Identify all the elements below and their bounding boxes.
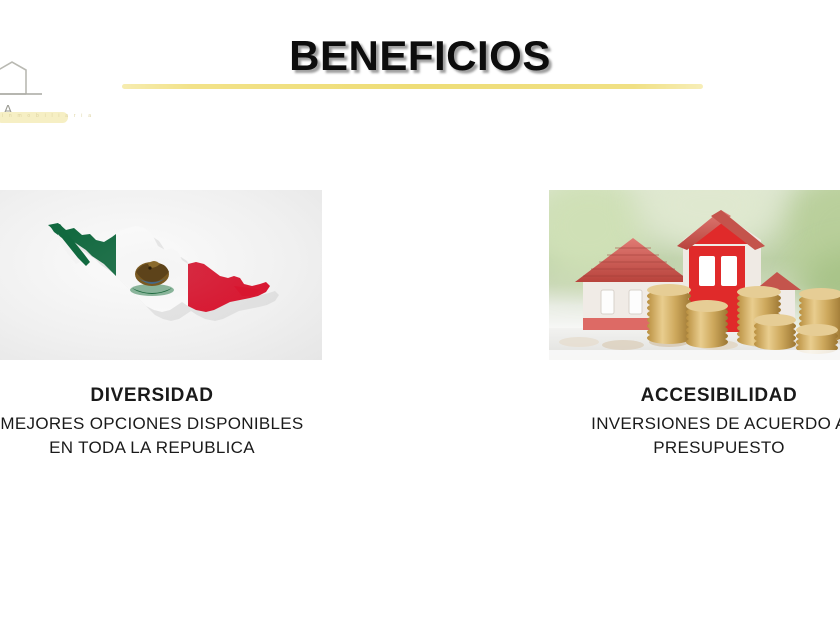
benefit-card-accesibilidad xyxy=(549,190,840,360)
benefit-caption-accesibilidad: ACCESIBILIDAD INVERSIONES DE ACUERDO A P… xyxy=(549,384,840,460)
coin-stack xyxy=(686,300,728,348)
caption-body-line-1: MEJORES OPCIONES DISPONIBLES xyxy=(0,412,322,436)
benefit-card-diversidad xyxy=(0,190,322,360)
slide-canvas: V A i n m o b i l i a r i a BENEFICIOS xyxy=(0,0,840,630)
title-underline-rule xyxy=(122,84,703,89)
coin-stack xyxy=(754,314,796,350)
benefit-caption-diversidad: DIVERSIDAD MEJORES OPCIONES DISPONIBLES … xyxy=(0,384,322,460)
caption-body-line-2: PRESUPUESTO xyxy=(549,436,840,460)
caption-heading: ACCESIBILIDAD xyxy=(549,384,840,408)
coin-stack xyxy=(796,324,838,354)
page-title: BENEFICIOS xyxy=(0,32,840,80)
caption-body-line-2: EN TODA LA REPUBLICA xyxy=(0,436,322,460)
mexico-map-scene xyxy=(0,190,322,360)
house-with-coins-image xyxy=(549,190,840,360)
caption-body: INVERSIONES DE ACUERDO A PRESUPUESTO xyxy=(549,412,840,460)
mexico-map-flag-image xyxy=(0,190,322,360)
caption-body: MEJORES OPCIONES DISPONIBLES EN TODA LA … xyxy=(0,412,322,460)
caption-body-line-1: INVERSIONES DE ACUERDO A xyxy=(549,412,840,436)
house-coins-scene xyxy=(549,190,840,360)
house-coins-svg xyxy=(549,190,840,360)
caption-heading: DIVERSIDAD xyxy=(0,384,322,408)
mexico-map-svg xyxy=(0,190,322,360)
logo-tagline: i n m o b i l i a r i a xyxy=(2,113,93,119)
coin-stack xyxy=(647,284,691,344)
